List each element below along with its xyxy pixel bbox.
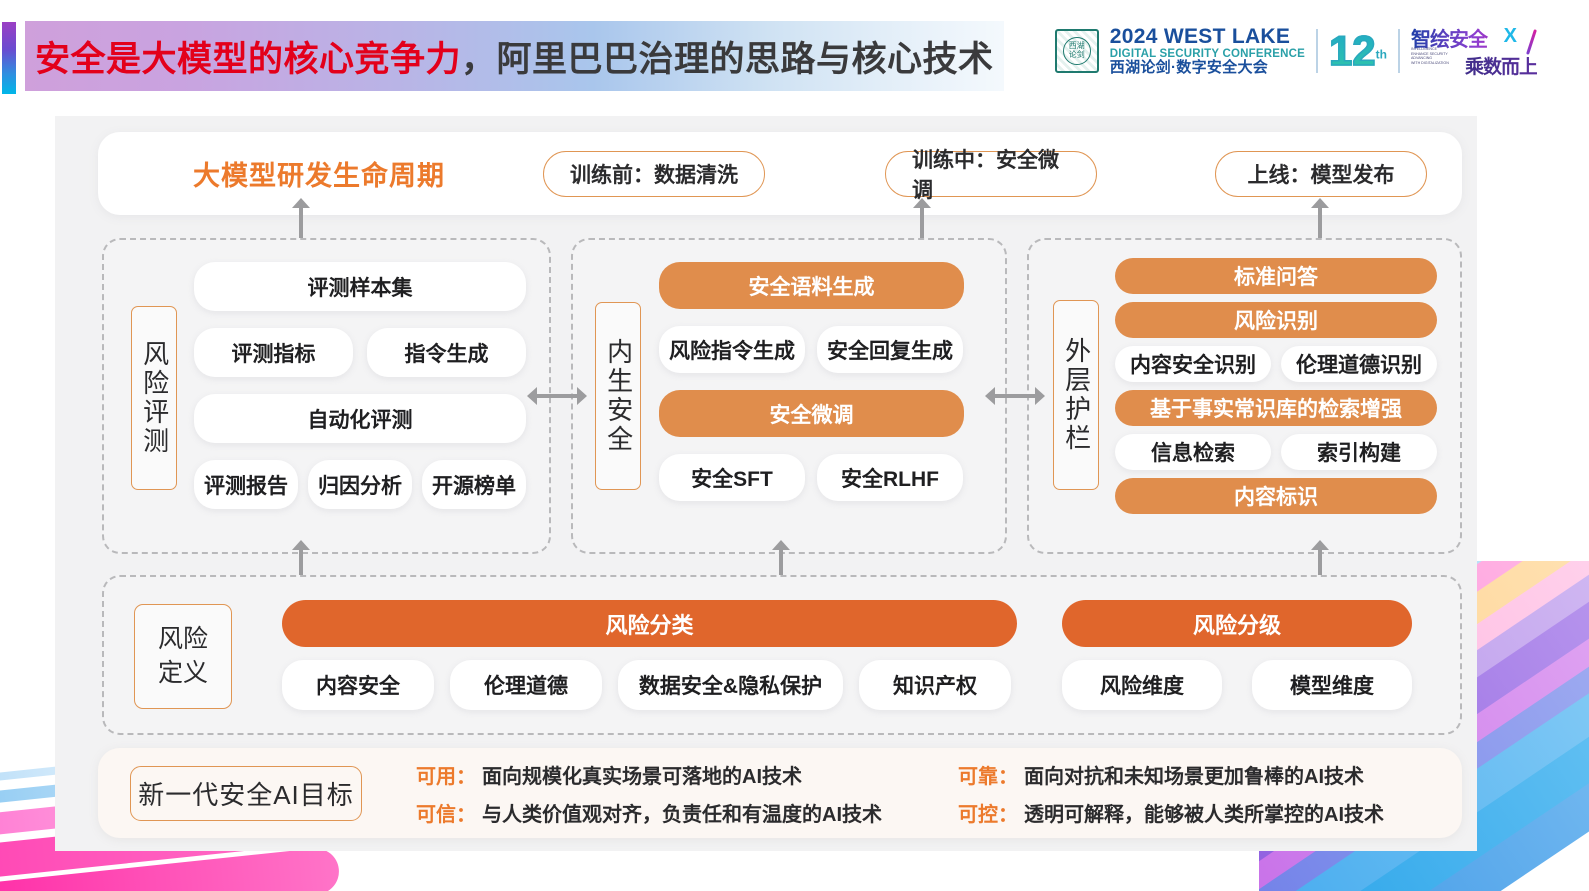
pill-open-source-leaderboard[interactable]: 开源榜单 [422,460,526,509]
pill-intellectual-property[interactable]: 知识产权 [859,660,1011,710]
lifecycle-title: 大模型研发生命周期 [193,154,543,193]
seal-icon: 西湖 论剑 [1055,29,1099,73]
logo-edition-suffix: th [1376,48,1387,62]
pill-automated-evaluation[interactable]: 自动化评测 [194,394,526,443]
pill-model-dimension[interactable]: 模型维度 [1252,660,1412,710]
goal-value-controllable: 透明可解释，能够被人类所掌控的AI技术 [1024,798,1384,827]
pill-safety-corpus-generation[interactable]: 安全语料生成 [659,262,964,309]
logo-text-block: 2024 WEST LAKE DIGITAL SECURITY CONFEREN… [1110,26,1305,76]
pill-evaluation-report[interactable]: 评测报告 [194,460,298,509]
pill-instruction-generation[interactable]: 指令生成 [367,328,526,377]
pill-information-retrieval[interactable]: 信息检索 [1115,434,1271,470]
arrow-between-column-1-and-2 [985,387,1045,405]
goal-badge: 新一代安全AI目标 [130,766,362,821]
lifecycle-stage-1[interactable]: 训练中：安全微调 [885,151,1097,197]
pill-row: 安全SFT 安全RLHF [659,454,964,501]
pill-data-security-privacy[interactable]: 数据安全&隐私保护 [618,660,843,710]
section-label-outer-guardrail: 外层护栏 [1053,300,1099,490]
pill-attribution-analysis[interactable]: 归因分析 [308,460,412,509]
page-title-rest: ，阿里巴巴治理的思路与核心技术 [461,31,994,82]
section-label-endogenous-security: 内生安全 [595,302,641,490]
bar-risk-grading[interactable]: 风险分级 [1062,600,1412,647]
pill-row: 安全语料生成 [659,262,964,309]
goal-item-usable: 可用： 面向规模化真实场景可落地的AI技术 [416,760,936,789]
pill-row: 评测指标 指令生成 [194,328,526,377]
section-body-risk-evaluation: 评测样本集 评测指标 指令生成 自动化评测 评测报告 归因分析 开源榜单 [194,262,526,509]
diagram-panel: 大模型研发生命周期 训练前：数据清洗 训练中：安全微调 上线：模型发布 风险评测… [55,116,1477,851]
section-body-endogenous-security: 安全语料生成 风险指令生成 安全回复生成 安全微调 安全SFT 安全RLHF [659,262,964,501]
left-accent-bar [2,22,16,94]
pill-content-safety-identification[interactable]: 内容安全识别 [1115,346,1271,382]
lifecycle-stage-0[interactable]: 训练前：数据清洗 [543,151,765,197]
risk-definition-label-line1: 风险 [158,623,208,657]
arrow-between-column-0-and-1 [527,387,587,405]
logo-divider-2 [1398,29,1400,73]
section-outer-guardrail: 外层护栏 标准问答 风险识别 内容安全识别 伦理道德识别 基于事实常识库的检索增… [1027,238,1462,554]
bar-risk-classification[interactable]: 风险分类 [282,600,1017,647]
pill-row: 自动化评测 [194,394,526,443]
pill-row: 信息检索 索引构建 [1115,434,1437,470]
pill-evaluation-sample-set[interactable]: 评测样本集 [194,262,526,311]
pill-row: 风险识别 [1115,302,1437,338]
conference-logo: 西湖 论剑 2024 WEST LAKE DIGITAL SECURITY CO… [1055,26,1537,76]
section-next-gen-ai-goals: 新一代安全AI目标 可用： 面向规模化真实场景可落地的AI技术 可信： 与人类价… [98,748,1462,838]
risk-definition-label-line2: 定义 [158,657,208,691]
pill-row: 评测样本集 [194,262,526,311]
goal-item-controllable: 可控： 透明可解释，能够被人类所掌控的AI技术 [958,798,1428,827]
pill-row: 风险指令生成 安全回复生成 [659,326,964,373]
page-title: 安全是大模型的核心竞争力，阿里巴巴治理的思路与核心技术 [25,21,1004,91]
logo-slogan: 智绘安全 乘数而上 INTELLIGENCEENHANCE SECURITYAD… [1411,27,1537,75]
slogan-english: INTELLIGENCEENHANCE SECURITYADVANCINGWIT… [1411,47,1449,66]
pill-content-safety[interactable]: 内容安全 [282,660,434,710]
pill-fact-knowledge-rag[interactable]: 基于事实常识库的检索增强 [1115,390,1437,426]
slogan-x-icon: X [1504,25,1517,48]
risk-grading-items: 风险维度 模型维度 [1062,660,1412,710]
section-risk-evaluation: 风险评测 评测样本集 评测指标 指令生成 自动化评测 评测报告 归因分析 开源榜… [102,238,551,554]
section-label-risk-definition: 风险 定义 [134,604,232,709]
pill-risk-dimension[interactable]: 风险维度 [1062,660,1222,710]
goal-key-reliable: 可靠： [958,760,1018,789]
goals-column-1: 可用： 面向规模化真实场景可落地的AI技术 可信： 与人类价值观对齐，负责任和有… [416,760,936,827]
logo-edition: 12th [1329,30,1387,72]
pill-risk-identification[interactable]: 风险识别 [1115,302,1437,338]
lifecycle-stage-2[interactable]: 上线：模型发布 [1215,151,1427,197]
pill-row: 安全微调 [659,390,964,437]
pill-ethics-identification[interactable]: 伦理道德识别 [1281,346,1437,382]
section-risk-definition: 风险 定义 风险分类 风险分级 内容安全 伦理道德 数据安全&隐私保护 知识产权… [102,575,1462,735]
pill-index-construction[interactable]: 索引构建 [1281,434,1437,470]
pill-row: 内容标识 [1115,478,1437,514]
pill-evaluation-metrics[interactable]: 评测指标 [194,328,353,377]
pill-row: 基于事实常识库的检索增强 [1115,390,1437,426]
goals-column-2: 可靠： 面向对抗和未知场景更加鲁棒的AI技术 可控： 透明可解释，能够被人类所掌… [958,760,1428,827]
goal-key-trustworthy: 可信： [416,798,476,827]
pill-row: 标准问答 [1115,258,1437,294]
goal-item-trustworthy: 可信： 与人类价值观对齐，负责任和有温度的AI技术 [416,798,936,827]
logo-line-1: 2024 WEST LAKE [1110,26,1305,48]
seal-line2: 论剑 [1069,51,1085,59]
pill-ethics-morality[interactable]: 伦理道德 [450,660,602,710]
goal-value-reliable: 面向对抗和未知场景更加鲁棒的AI技术 [1024,760,1364,789]
pill-standard-qa[interactable]: 标准问答 [1115,258,1437,294]
logo-divider-1 [1316,29,1318,73]
pill-risk-instruction-generation[interactable]: 风险指令生成 [659,326,805,373]
section-endogenous-security: 内生安全 安全语料生成 风险指令生成 安全回复生成 安全微调 安全SFT 安全R… [571,238,1007,554]
goal-key-usable: 可用： [416,760,476,789]
slide-root: 安全是大模型的核心竞争力，阿里巴巴治理的思路与核心技术 西湖 论剑 2024 W… [0,0,1589,891]
goal-value-usable: 面向规模化真实场景可落地的AI技术 [482,760,802,789]
pill-row: 评测报告 归因分析 开源榜单 [194,460,526,509]
page-title-highlight: 安全是大模型的核心竞争力 [35,31,461,82]
logo-edition-number: 12 [1329,27,1376,74]
pill-row: 内容安全识别 伦理道德识别 [1115,346,1437,382]
pill-safety-sft[interactable]: 安全SFT [659,454,805,501]
section-body-outer-guardrail: 标准问答 风险识别 内容安全识别 伦理道德识别 基于事实常识库的检索增强 信息检… [1115,258,1437,514]
risk-classification-items: 内容安全 伦理道德 数据安全&隐私保护 知识产权 [282,660,1011,710]
logo-line-3: 西湖论剑·数字安全大会 [1110,60,1305,76]
goal-value-trustworthy: 与人类价值观对齐，负责任和有温度的AI技术 [482,798,882,827]
pill-safety-rlhf[interactable]: 安全RLHF [817,454,963,501]
goal-item-reliable: 可靠： 面向对抗和未知场景更加鲁棒的AI技术 [958,760,1428,789]
pill-safe-reply-generation[interactable]: 安全回复生成 [817,326,963,373]
section-label-risk-evaluation: 风险评测 [131,306,177,490]
pill-safety-fine-tuning[interactable]: 安全微调 [659,390,964,437]
pill-content-watermark[interactable]: 内容标识 [1115,478,1437,514]
goal-key-controllable: 可控： [958,798,1018,827]
